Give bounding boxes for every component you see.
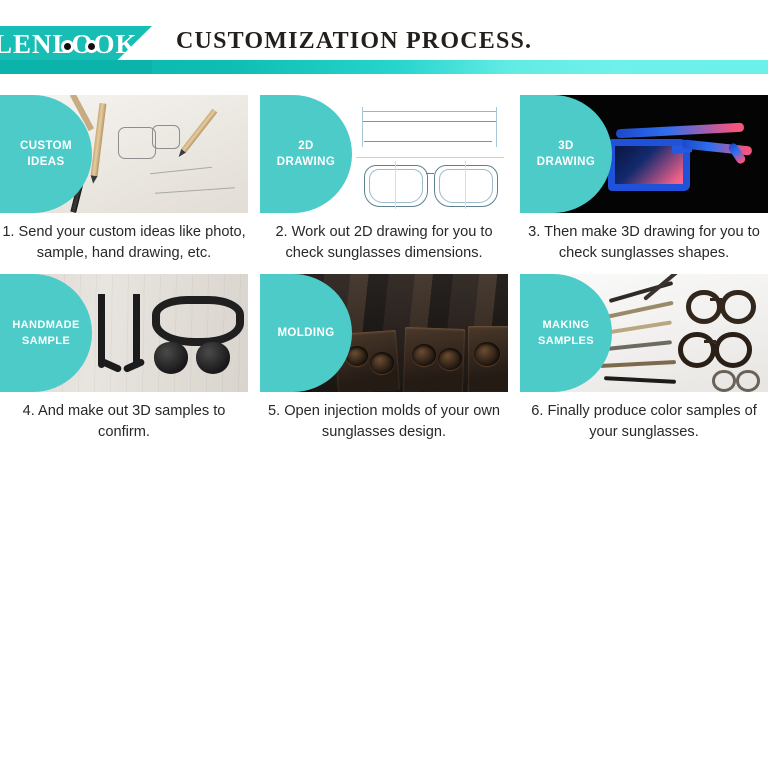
temple-sample — [604, 301, 673, 319]
step-card-2[interactable]: 2D DRAWING 2. Work out 2D drawing for yo… — [260, 95, 508, 264]
cad-extension-line — [496, 107, 497, 147]
pencil-icon — [91, 103, 107, 177]
cad-profile-line — [362, 121, 496, 122]
cad-bridge — [426, 173, 434, 174]
step-card-1[interactable]: CUSTOM IDEAS 1. Send your custom ideas l… — [0, 95, 248, 264]
badge-line-2: SAMPLES — [538, 333, 594, 349]
step-card-3[interactable]: 3D DRAWING 3. Then make 3D drawing for y… — [520, 95, 768, 264]
temple-sample — [604, 376, 676, 384]
step-5-image: MOLDING — [260, 274, 508, 392]
eye-left-icon — [61, 40, 74, 53]
page-header: LENLOOK CUSTOMIZATION PROCESS. — [0, 0, 768, 95]
badge-line-2: IDEAS — [27, 154, 64, 170]
cad-lens-left-inner — [369, 169, 423, 203]
frame-sample — [686, 290, 722, 324]
cad-centerline — [395, 161, 396, 209]
frame-sample — [714, 332, 752, 368]
badge-line-1: 3D — [558, 138, 574, 154]
badge-line-2: DRAWING — [277, 154, 335, 170]
mold-cavity — [474, 342, 500, 366]
lens-sample-left — [154, 342, 188, 374]
temple-tip-left — [100, 358, 123, 373]
bridge-sample — [710, 298, 722, 301]
cad-extension-line — [362, 107, 363, 147]
step-6-image: MAKING SAMPLES — [520, 274, 768, 392]
header-bar-left-solid — [0, 60, 152, 74]
cad-dimension-line — [362, 111, 496, 112]
step-6-caption: 6. Finally produce color samples of your… — [520, 401, 768, 443]
lens-sample-right — [196, 342, 230, 374]
badge-line-1: CUSTOM — [20, 138, 72, 154]
page-title: CUSTOMIZATION PROCESS. — [176, 28, 532, 55]
step-4-caption: 4. And make out 3D samples to confirm. — [0, 401, 248, 443]
frame-front-handmade — [152, 296, 244, 346]
logo-eyes-icon — [61, 40, 98, 53]
temple-sample — [600, 360, 676, 368]
cad-separator-line — [356, 157, 504, 158]
frame-sample-small — [736, 370, 760, 392]
step-1-image: CUSTOM IDEAS — [0, 95, 248, 213]
step-2-caption: 2. Work out 2D drawing for you to check … — [260, 222, 508, 264]
process-steps-grid: CUSTOM IDEAS 1. Send your custom ideas l… — [0, 95, 768, 443]
badge-line-1: 2D — [298, 138, 314, 154]
step-1-caption: 1. Send your custom ideas like photo, sa… — [0, 222, 248, 264]
sketch-lens-left — [118, 127, 156, 159]
step-card-6[interactable]: MAKING SAMPLES 6. Finally produce color … — [520, 274, 768, 443]
badge-line-2: DRAWING — [537, 154, 595, 170]
step-2-image: 2D DRAWING — [260, 95, 508, 213]
frame-sample — [678, 332, 716, 368]
badge-line-1: MAKING — [542, 317, 589, 333]
pencil-icon — [181, 109, 218, 154]
bridge-sample — [704, 340, 716, 343]
step-3-caption: 3. Then make 3D drawing for you to check… — [520, 222, 768, 264]
process-row-1: CUSTOM IDEAS 1. Send your custom ideas l… — [0, 95, 768, 264]
step-card-5[interactable]: MOLDING 5. Open injection molds of your … — [260, 274, 508, 443]
temple-arm-right — [133, 294, 140, 368]
cad-lens-right-inner — [439, 169, 493, 203]
sketch-lens-right — [152, 125, 180, 149]
step-4-image: HANDMADE SAMPLE — [0, 274, 248, 392]
step-5-caption: 5. Open injection molds of your own sung… — [260, 401, 508, 443]
badge-line-2: SAMPLE — [22, 333, 70, 349]
cad-centerline — [465, 161, 466, 209]
mold-cavity — [412, 344, 436, 366]
step-3-image: 3D DRAWING — [520, 95, 768, 213]
sketch-temple-line — [150, 167, 212, 174]
cad-profile-line — [364, 141, 492, 142]
badge-line-1: HANDMADE — [12, 317, 79, 333]
badge-line-1: MOLDING — [277, 325, 334, 341]
mold-cavity — [438, 348, 462, 370]
temple-arm-left — [98, 294, 105, 368]
step-card-4[interactable]: HANDMADE SAMPLE 4. And make out 3D sampl… — [0, 274, 248, 443]
mold-cavity — [370, 352, 394, 374]
sketch-temple-line — [155, 187, 235, 194]
frame-sample — [720, 290, 756, 324]
eye-right-icon — [85, 40, 98, 53]
process-row-2: HANDMADE SAMPLE 4. And make out 3D sampl… — [0, 274, 768, 443]
frame-sample-small — [712, 370, 736, 392]
temple-top — [616, 123, 744, 139]
